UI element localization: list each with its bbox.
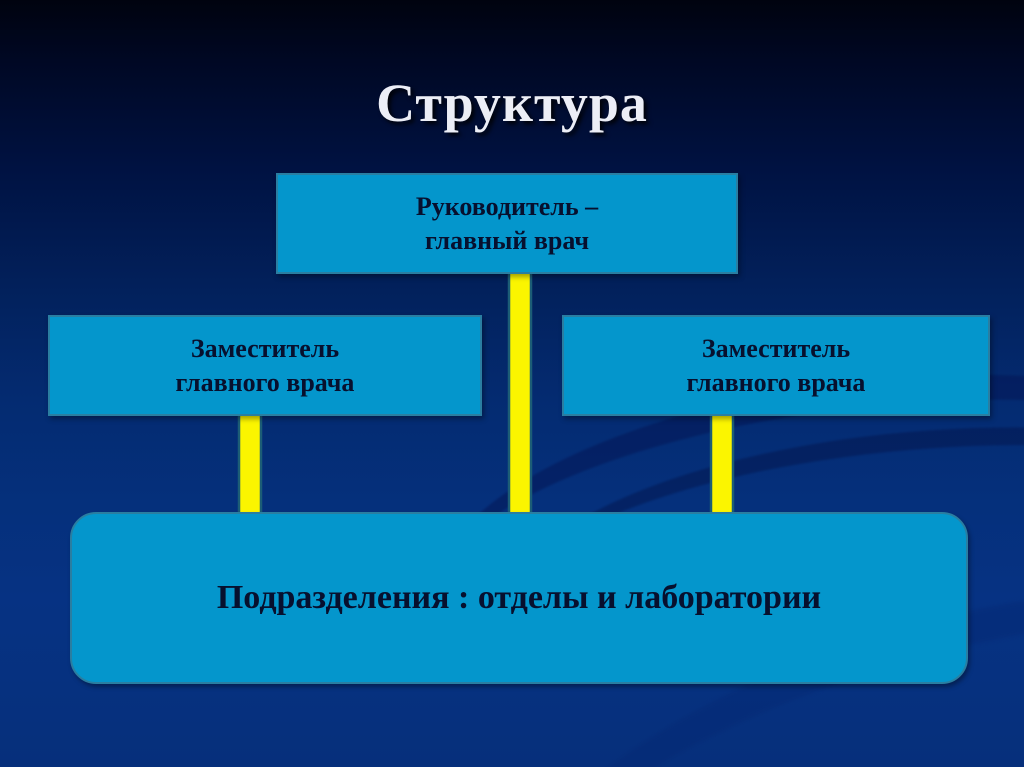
org-node-deputy-left[interactable]: Заместитель главного врача — [48, 315, 482, 416]
org-node-deputy-right-line2: главного врача — [687, 368, 866, 397]
org-node-deputy-left-line1: Заместитель — [191, 334, 339, 363]
org-node-head[interactable]: Руководитель – главный врач — [276, 173, 738, 274]
org-node-head-line1: Руководитель – — [416, 192, 598, 221]
org-node-deputy-right-label: Заместитель главного врача — [677, 332, 876, 399]
arrow-head-to-divisions — [498, 272, 542, 552]
slide-canvas: Структура Руководитель – главный врач За… — [0, 0, 1024, 767]
org-node-divisions-label: Подразделения : отделы и лаборатории — [207, 576, 831, 620]
org-node-deputy-left-line2: главного врача — [176, 368, 355, 397]
org-node-deputy-left-label: Заместитель главного врача — [166, 332, 365, 399]
org-node-divisions[interactable]: Подразделения : отделы и лаборатории — [70, 512, 968, 684]
org-node-deputy-right-line1: Заместитель — [702, 334, 850, 363]
org-node-head-line2: главный врач — [425, 226, 589, 255]
org-node-head-label: Руководитель – главный врач — [406, 190, 608, 257]
org-node-deputy-right[interactable]: Заместитель главного врача — [562, 315, 990, 416]
slide-title: Структура — [0, 72, 1024, 134]
